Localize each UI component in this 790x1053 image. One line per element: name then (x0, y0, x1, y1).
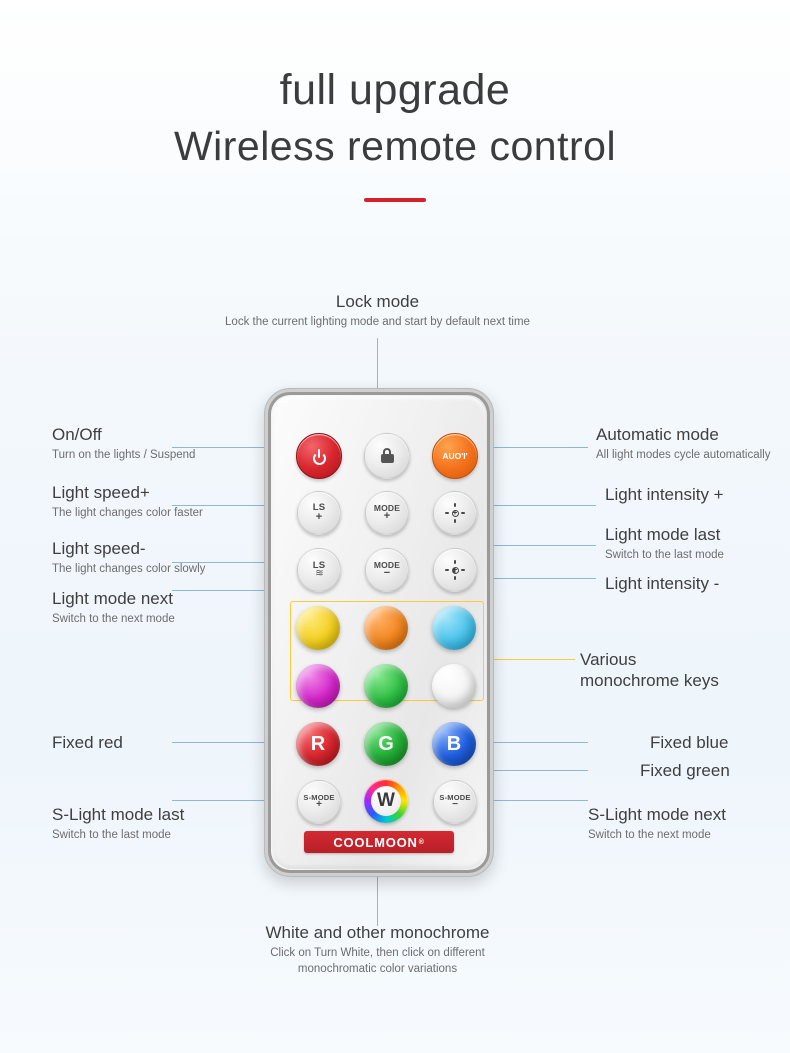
remote-control-face: AUO'I' LS + MODE + + (272, 396, 486, 869)
brand-name: COOLMOON (333, 835, 417, 850)
white-mode-button[interactable]: W (364, 779, 408, 823)
remote-control-body: AUO'I' LS + MODE + + (264, 388, 494, 877)
callout-light-intensity-up-title: Light intensity + (605, 484, 724, 505)
light-speed-down-button[interactable]: LS ≋ (297, 548, 341, 592)
headline-line-1: full upgrade (0, 66, 790, 115)
mode-up-sign: + (384, 511, 390, 522)
callout-slight-last: S-Light mode last Switch to the last mod… (52, 804, 184, 843)
callout-light-intensity-up: Light intensity + (605, 484, 724, 505)
brightness-up-icon: + (445, 503, 465, 523)
light-speed-up-button[interactable]: LS + (297, 491, 341, 535)
callout-white-other-sub1: Click on Turn White, then click on diffe… (190, 946, 565, 961)
callout-fixed-blue: Fixed blue (650, 732, 728, 753)
s-light-mode-next-button[interactable]: S-MODE − (433, 780, 477, 824)
callout-on-off-title: On/Off (52, 424, 195, 445)
leader-line-intensity-up (478, 505, 596, 506)
smode-last-sign: + (316, 800, 322, 810)
smode-next-sign: − (452, 800, 458, 810)
fixed-blue-button[interactable]: B (432, 722, 476, 766)
color-key-white[interactable] (432, 664, 476, 708)
callout-slight-last-sub: Switch to the last mode (52, 828, 184, 843)
callout-auto-mode-title: Automatic mode (596, 424, 771, 445)
callout-light-speed-down: Light speed- The light changes color slo… (52, 538, 205, 577)
poster-canvas: full upgrade Wireless remote control Loc… (0, 0, 790, 1053)
brightness-down-icon: − (445, 560, 465, 580)
color-key-yellow[interactable] (296, 606, 340, 650)
callout-lock-mode-title: Lock mode (190, 291, 565, 312)
callout-various-keys-title2: monochrome keys (580, 670, 719, 691)
callout-light-mode-next: Light mode next Switch to the next mode (52, 588, 175, 627)
callout-white-other: White and other monochrome Click on Turn… (190, 922, 565, 977)
callout-white-other-title: White and other monochrome (190, 922, 565, 943)
fixed-blue-label: B (447, 734, 461, 754)
lock-button[interactable] (364, 433, 410, 479)
callout-fixed-red: Fixed red (52, 732, 123, 753)
light-intensity-up-button[interactable]: + (433, 491, 477, 535)
fixed-red-button[interactable]: R (296, 722, 340, 766)
callout-light-speed-down-sub: The light changes color slowly (52, 562, 205, 577)
leader-line-intensity-down (478, 578, 596, 579)
power-button[interactable] (296, 433, 342, 479)
brightness-up-sign: + (453, 509, 458, 517)
light-mode-last-button[interactable]: MODE − (365, 548, 409, 592)
callout-various-keys: Various monochrome keys (580, 649, 719, 692)
color-key-magenta[interactable] (296, 664, 340, 708)
lock-icon (379, 448, 395, 464)
fixed-red-label: R (311, 734, 325, 754)
headline-block: full upgrade Wireless remote control (0, 66, 790, 202)
callout-light-mode-last: Light mode last Switch to the last mode (605, 524, 724, 563)
callout-light-mode-next-title: Light mode next (52, 588, 175, 609)
auto-mode-button[interactable]: AUO'I' (432, 433, 478, 479)
callout-auto-mode-sub: All light modes cycle automatically (596, 448, 771, 463)
light-intensity-down-button[interactable]: − (433, 548, 477, 592)
callout-auto-mode: Automatic mode All light modes cycle aut… (596, 424, 771, 463)
color-key-cyan[interactable] (432, 606, 476, 650)
white-mode-label: W (371, 786, 401, 816)
callout-lock-mode: Lock mode Lock the current lighting mode… (190, 291, 565, 330)
callout-light-mode-last-title: Light mode last (605, 524, 724, 545)
fixed-green-button[interactable]: G (364, 722, 408, 766)
headline-divider (364, 198, 426, 202)
s-light-mode-last-button[interactable]: S-MODE + (297, 780, 341, 824)
callout-light-mode-next-sub: Switch to the next mode (52, 612, 175, 627)
callout-light-speed-down-title: Light speed- (52, 538, 205, 559)
callout-light-speed-up-sub: The light changes color faster (52, 506, 203, 521)
callout-fixed-blue-title: Fixed blue (650, 732, 728, 753)
callout-white-other-sub2: monochromatic color variations (190, 962, 565, 977)
brand-mark: ® (419, 839, 425, 846)
callout-light-intensity-down-title: Light intensity - (605, 573, 719, 594)
callout-light-speed-up: Light speed+ The light changes color fas… (52, 482, 203, 521)
callout-fixed-green-title: Fixed green (640, 760, 730, 781)
callout-fixed-red-title: Fixed red (52, 732, 123, 753)
fixed-green-label: G (378, 734, 394, 754)
callout-slight-next-title: S-Light mode next (588, 804, 726, 825)
callout-fixed-green: Fixed green (640, 760, 730, 781)
callout-on-off-sub: Turn on the lights / Suspend (52, 448, 195, 463)
callout-various-keys-title: Various (580, 649, 719, 670)
mode-down-sign: − (384, 568, 390, 579)
power-icon (312, 449, 327, 464)
color-key-orange[interactable] (364, 606, 408, 650)
callout-light-intensity-down: Light intensity - (605, 573, 719, 594)
callout-light-mode-last-sub: Switch to the last mode (605, 548, 724, 563)
light-mode-next-button[interactable]: MODE + (365, 491, 409, 535)
callout-slight-last-title: S-Light mode last (52, 804, 184, 825)
speed-wave-icon: ≋ (315, 569, 322, 579)
light-speed-up-sign: + (316, 512, 322, 523)
brightness-down-sign: − (453, 566, 458, 574)
callout-slight-next-sub: Switch to the next mode (588, 828, 726, 843)
brand-plate: COOLMOON® (304, 831, 454, 853)
callout-slight-next: S-Light mode next Switch to the next mod… (588, 804, 726, 843)
callout-lock-mode-sub: Lock the current lighting mode and start… (190, 315, 565, 330)
color-key-green[interactable] (364, 664, 408, 708)
callout-light-speed-up-title: Light speed+ (52, 482, 203, 503)
callout-on-off: On/Off Turn on the lights / Suspend (52, 424, 195, 463)
auto-mode-label: AUO'I' (442, 452, 467, 461)
headline-line-2: Wireless remote control (0, 123, 790, 170)
